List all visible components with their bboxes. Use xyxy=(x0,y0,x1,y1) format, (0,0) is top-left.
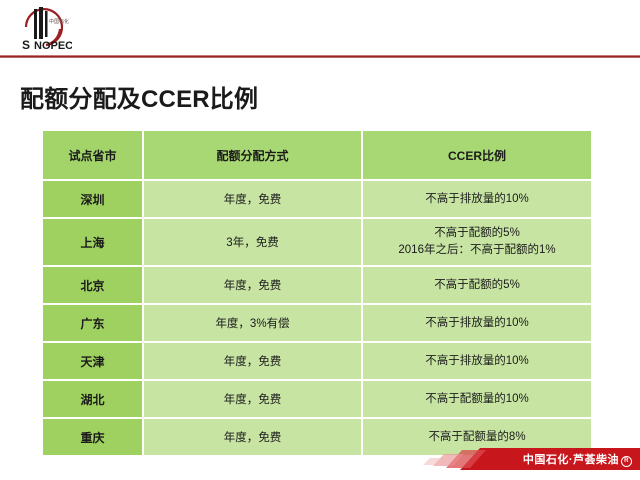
footer-banner-text: 中国石化·芦荟柴油R xyxy=(523,451,632,467)
cell-ccer-line: 不高于配额的5% xyxy=(367,225,587,242)
cell-method: 年度，免费 xyxy=(144,381,363,419)
table-header: 试点省市 配额分配方式 CCER比例 xyxy=(43,131,591,181)
cell-ccer: 不高于配额的5% xyxy=(363,267,591,305)
header-band: 中国石化 S NOPEC xyxy=(0,0,640,56)
svg-text:S: S xyxy=(22,38,30,52)
column-header-method: 配额分配方式 xyxy=(144,131,363,181)
cell-ccer-line: 不高于配额量的8% xyxy=(367,429,587,446)
cell-province: 天津 xyxy=(43,343,144,381)
table-row: 北京 年度，免费 不高于配额的5% xyxy=(43,267,591,305)
page-title: 配额分配及CCER比例 xyxy=(20,79,258,114)
cell-ccer: 不高于排放量的10% xyxy=(363,305,591,343)
header-divider xyxy=(0,55,640,58)
cell-province: 深圳 xyxy=(43,181,144,219)
cell-ccer-line: 不高于排放量的10% xyxy=(367,315,587,332)
footer-banner-label: 中国石化·芦荟柴油 xyxy=(523,454,619,466)
column-header-province: 试点省市 xyxy=(43,131,144,181)
allocation-table: 试点省市 配额分配方式 CCER比例 深圳 年度，免费 不高于排放量的10% 上… xyxy=(43,131,591,455)
sinopec-logo: 中国石化 S NOPEC xyxy=(16,3,72,53)
cell-ccer: 不高于配额的5% 2016年之后：不高于配额的1% xyxy=(363,219,591,267)
cell-ccer: 不高于排放量的10% xyxy=(363,343,591,381)
registered-mark-icon: R xyxy=(621,456,632,467)
allocation-table-container: 试点省市 配额分配方式 CCER比例 深圳 年度，免费 不高于排放量的10% 上… xyxy=(43,131,591,455)
cell-ccer-line: 不高于配额量的10% xyxy=(367,391,587,408)
cell-ccer: 不高于配额量的10% xyxy=(363,381,591,419)
table-header-row: 试点省市 配额分配方式 CCER比例 xyxy=(43,131,591,181)
cell-method: 年度，3%有偿 xyxy=(144,305,363,343)
cell-ccer: 不高于排放量的10% xyxy=(363,181,591,219)
cell-province: 北京 xyxy=(43,267,144,305)
table-row: 广东 年度，3%有偿 不高于排放量的10% xyxy=(43,305,591,343)
cell-method: 年度，免费 xyxy=(144,267,363,305)
cell-province: 上海 xyxy=(43,219,144,267)
cell-ccer-line: 2016年之后：不高于配额的1% xyxy=(367,242,587,259)
table-row: 深圳 年度，免费 不高于排放量的10% xyxy=(43,181,591,219)
table-row: 湖北 年度，免费 不高于配额量的10% xyxy=(43,381,591,419)
table-row: 上海 3年，免费 不高于配额的5% 2016年之后：不高于配额的1% xyxy=(43,219,591,267)
cell-province: 湖北 xyxy=(43,381,144,419)
cell-ccer-line: 不高于排放量的10% xyxy=(367,191,587,208)
column-header-ccer: CCER比例 xyxy=(363,131,591,181)
svg-text:NOPEC: NOPEC xyxy=(34,40,72,52)
table-row: 天津 年度，免费 不高于排放量的10% xyxy=(43,343,591,381)
footer-banner: 中国石化·芦荟柴油R xyxy=(420,448,640,470)
cell-method: 年度，免费 xyxy=(144,419,363,455)
slide-root: 中国石化 S NOPEC 配额分配及CCER比例 试点省市 配额分配方式 CCE… xyxy=(0,0,640,480)
svg-text:中国石化: 中国石化 xyxy=(49,18,69,25)
cell-province: 重庆 xyxy=(43,419,144,455)
cell-method: 年度，免费 xyxy=(144,181,363,219)
cell-method: 年度，免费 xyxy=(144,343,363,381)
cell-method: 3年，免费 xyxy=(144,219,363,267)
table-body: 深圳 年度，免费 不高于排放量的10% 上海 3年，免费 不高于配额的5% 20… xyxy=(43,181,591,455)
cell-province: 广东 xyxy=(43,305,144,343)
cell-ccer-line: 不高于配额的5% xyxy=(367,277,587,294)
cell-ccer-line: 不高于排放量的10% xyxy=(367,353,587,370)
